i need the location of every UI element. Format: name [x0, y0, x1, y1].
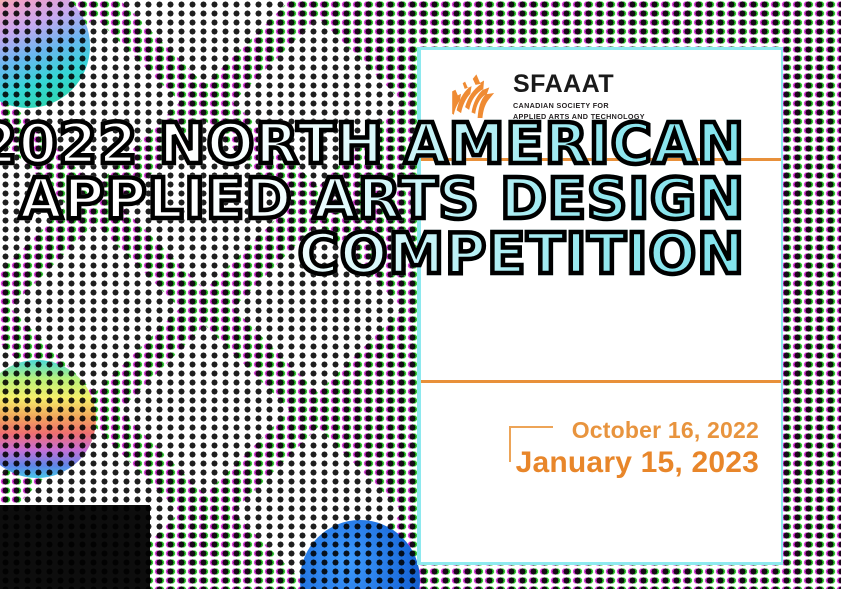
divider-bottom [421, 380, 781, 383]
logo-subtitle: CANADIAN SOCIETY FOR APPLIED ARTS AND TE… [513, 101, 645, 122]
content-card: SFAAAT CANADIAN SOCIETY FOR APPLIED ARTS… [421, 50, 781, 562]
organization-logo: SFAAAT CANADIAN SOCIETY FOR APPLIED ARTS… [452, 72, 645, 122]
logo-name: SFAAAT [513, 72, 645, 97]
logo-subtitle-line-1: CANADIAN SOCIETY FOR [513, 101, 645, 111]
date-from: October 16, 2022 [572, 417, 759, 443]
date-to: January 15, 2023 [421, 446, 759, 480]
maple-leaf-icon [452, 72, 504, 122]
logo-wordmark: SFAAAT CANADIAN SOCIETY FOR APPLIED ARTS… [513, 72, 645, 122]
poster-canvas: SFAAAT CANADIAN SOCIETY FOR APPLIED ARTS… [0, 0, 841, 589]
divider-top [421, 158, 781, 161]
date-range: October 16, 2022 January 15, 2023 [421, 418, 781, 479]
pattern-block [0, 120, 12, 310]
pattern-block [0, 505, 150, 589]
logo-subtitle-line-2: APPLIED ARTS AND TECHNOLOGY [513, 112, 645, 122]
date-from-row: October 16, 2022 [421, 418, 759, 444]
